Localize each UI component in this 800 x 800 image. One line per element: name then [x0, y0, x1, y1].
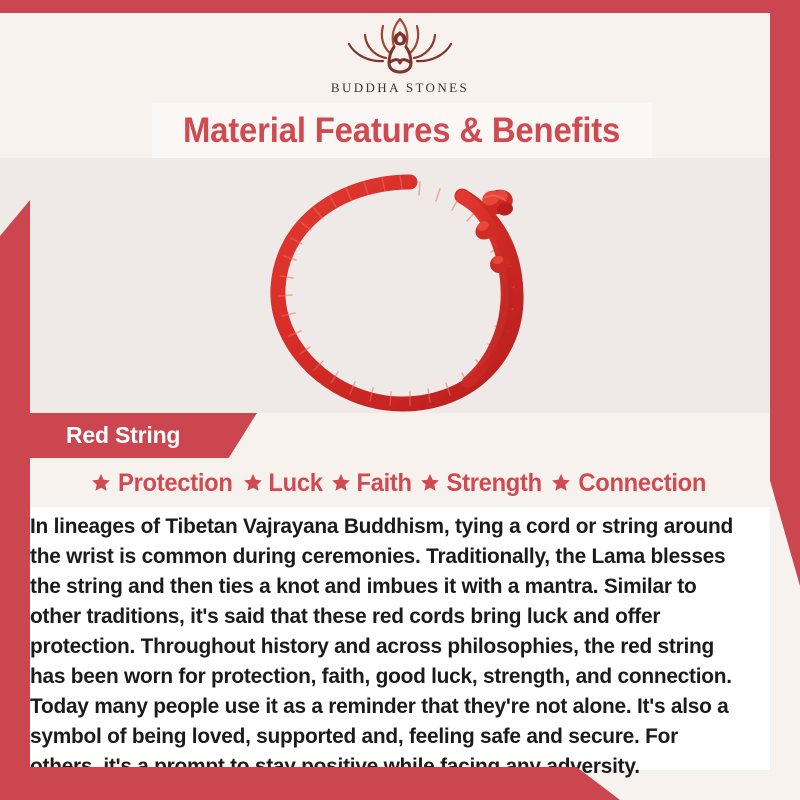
product-image-stage [0, 158, 800, 413]
star-icon [419, 472, 441, 494]
brand-name: BUDDHA STONES [331, 80, 469, 96]
lotus-meditation-icon [325, 13, 475, 79]
benefit-label: Luck [268, 469, 322, 498]
star-icon [90, 472, 112, 494]
benefit-label: Connection [579, 469, 707, 498]
product-label-ribbon: Red String [0, 413, 257, 458]
benefit-label: Strength [447, 469, 542, 498]
decorative-left-band [0, 200, 30, 800]
benefit-item-strength: Strength [419, 469, 544, 498]
star-icon [550, 472, 572, 494]
benefits-row: Protection Luck Faith Strength Connectio [30, 462, 770, 504]
benefit-item-connection: Connection [550, 469, 710, 498]
poster-canvas: BUDDHA STONES Material Features & Benefi… [0, 0, 800, 800]
decorative-bottom-bar [0, 767, 620, 800]
product-label-text: Red String [66, 422, 180, 449]
benefit-item-faith: Faith [330, 469, 413, 498]
star-icon [330, 472, 352, 494]
red-string-bracelet-image [250, 168, 580, 413]
decorative-right-band [770, 0, 800, 586]
decorative-top-bar [0, 0, 800, 13]
brand-header: BUDDHA STONES [0, 13, 800, 105]
benefit-label: Faith [356, 469, 411, 498]
page-title: Material Features & Benefits [183, 111, 620, 151]
description-panel: In lineages of Tibetan Vajrayana Buddhis… [30, 507, 770, 770]
description-text: In lineages of Tibetan Vajrayana Buddhis… [30, 511, 748, 781]
product-label-row: Red String [0, 413, 800, 458]
star-icon [242, 472, 264, 494]
benefit-item-protection: Protection [90, 469, 236, 498]
benefit-label: Protection [118, 469, 233, 498]
benefit-item-luck: Luck [242, 469, 324, 498]
title-band: Material Features & Benefits [152, 103, 652, 158]
